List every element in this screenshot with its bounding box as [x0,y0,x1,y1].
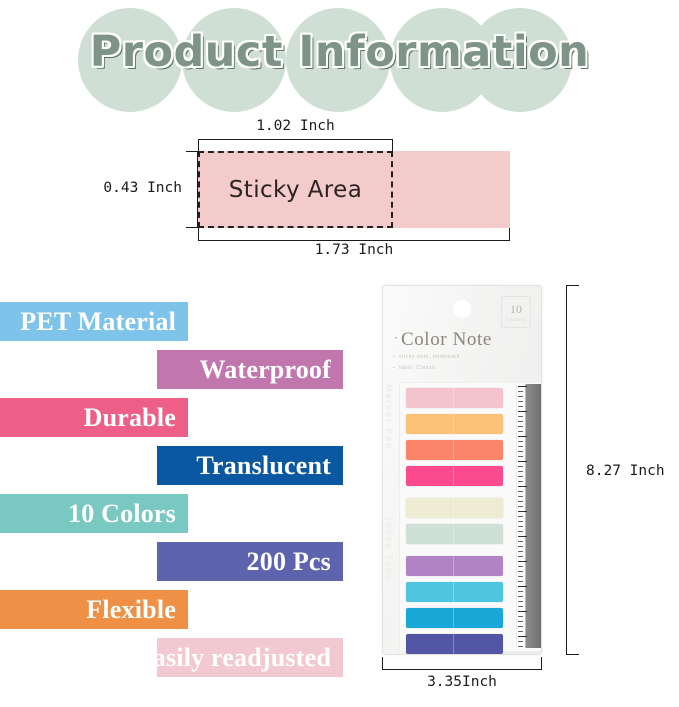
color-strip [406,582,503,602]
ruler-tick [518,451,523,452]
color-strip [406,466,503,486]
color-strip [406,414,503,434]
ruler-tick [518,556,523,557]
package-card: 10 COLORS ·Color Note sticky note, bookm… [382,285,542,655]
color-strip [406,498,503,518]
ruler-tick [518,541,523,542]
dimension-label-height: 8.27 Inch [586,463,665,479]
dimension-bracket-bottom [198,228,510,241]
bullet-icon: · [394,330,399,345]
ruler-tick [518,566,523,567]
ruler-tick [518,646,523,647]
ruler-tick [518,496,523,497]
feature-bar: Waterproof [157,350,343,389]
ruler-tick [518,626,523,627]
color-count-badge: 10 COLORS [501,296,531,328]
ruler-tick [518,426,523,427]
ruler-tick [518,636,527,637]
ruler-scale [516,384,541,648]
ruler-tick [518,461,527,462]
feature-bar: Flexible [0,590,188,629]
ruler-tick [518,516,523,517]
feature-bar: Durable [0,398,188,437]
header-banner: Product Information [0,0,679,118]
feature-label: 200 Pcs [247,547,331,577]
ruler-tick [518,421,523,422]
feature-label: Translucent [196,451,331,481]
ruler-tick [518,616,523,617]
ruler-tick [518,416,523,417]
package-subtitle-line: sticky note, bookmark [399,354,460,360]
ruler-tick [518,611,527,612]
product-package: 10 COLORS ·Color Note sticky note, bookm… [382,285,542,655]
ruler-tick [518,546,523,547]
ruler-tick [518,406,523,407]
package-subtitle-line: label, Classic [399,365,437,371]
feature-label: 10 Colors [68,499,176,529]
feature-list: PET MaterialWaterproofDurableTranslucent… [0,288,350,688]
ruler-tick [518,481,523,482]
dimension-label-bottom: 1.73 Inch [198,242,510,258]
ruler-tick [518,551,523,552]
ruler-tick [518,621,523,622]
dimension-label-top: 1.02 Inch [198,118,393,134]
ruler-tick [518,536,527,537]
ruler-tick [518,491,523,492]
ruler-tick [518,606,523,607]
ruler-tick [518,391,523,392]
ruler-tick [518,486,527,487]
color-strip [406,388,503,408]
ruler-tick [518,521,523,522]
ruler-tick [518,591,523,592]
color-strip [406,440,503,460]
color-strip [406,556,503,576]
package-title: ·Color Note [394,329,492,351]
ruler-tick [518,586,527,587]
package-title-text: Color Note [401,329,492,350]
feature-label: Durable [84,403,176,433]
ruler-tick [518,401,523,402]
badge-sublabel: COLORS [506,318,526,322]
feature-bar: PET Material [0,302,188,341]
ruler-tick [518,531,523,532]
dimension-bracket-top [198,139,393,151]
badge-number: 10 [510,303,522,315]
ruler-tick [518,581,523,582]
feature-bar: 200 Pcs [157,542,343,581]
ruler-tick [518,466,523,467]
ruler-tick [518,431,523,432]
ruler-tick [518,561,527,562]
feature-label: Flexible [86,595,176,625]
dimension-bracket-width [382,657,542,670]
ruler-tick [518,596,523,597]
sticky-area-diagram: Sticky Area 1.02 Inch 0.43 Inch 1.73 Inc… [0,118,679,268]
ruler-tick [518,456,523,457]
feature-bar: Translucent [157,446,343,485]
color-strip [406,634,503,654]
ruler-tick [518,446,523,447]
color-strip [406,524,503,544]
ruler-tick [518,411,527,412]
ruler-tick [518,386,527,387]
ruler-tick [518,471,523,472]
feature-label: Waterproof [200,355,332,385]
ruler-tick [518,641,523,642]
feature-label: PET Material [20,307,176,337]
ruler-tick [518,526,523,527]
package-edge-text: Index Tabs [384,518,394,581]
page-title: Product Information [0,27,679,77]
ruler-tick [518,441,523,442]
dimension-bracket-height [566,285,579,655]
feature-bar: Easily readjusted [157,638,343,677]
color-strip [406,608,503,628]
ruler-tick [518,506,523,507]
color-strip-stack [406,388,503,646]
ruler-tick [518,631,523,632]
dimension-label-left: 0.43 Inch [100,180,182,196]
dimension-bracket-left [186,151,198,228]
ruler-tick [518,476,523,477]
feature-label: Easily readjusted [135,643,331,673]
package-edge-text: Marker Pen [384,384,394,451]
dimension-label-width: 3.35Inch [382,674,542,690]
ruler-tick [518,576,523,577]
hang-hole-icon [451,298,473,320]
ruler-tick [518,396,523,397]
ruler-tick [518,511,527,512]
ruler-tick [518,501,523,502]
ruler-tick [518,601,523,602]
ruler-tick [518,571,523,572]
sticky-area-label: Sticky Area [198,151,393,228]
ruler-tick [518,436,527,437]
feature-bar: 10 Colors [0,494,188,533]
